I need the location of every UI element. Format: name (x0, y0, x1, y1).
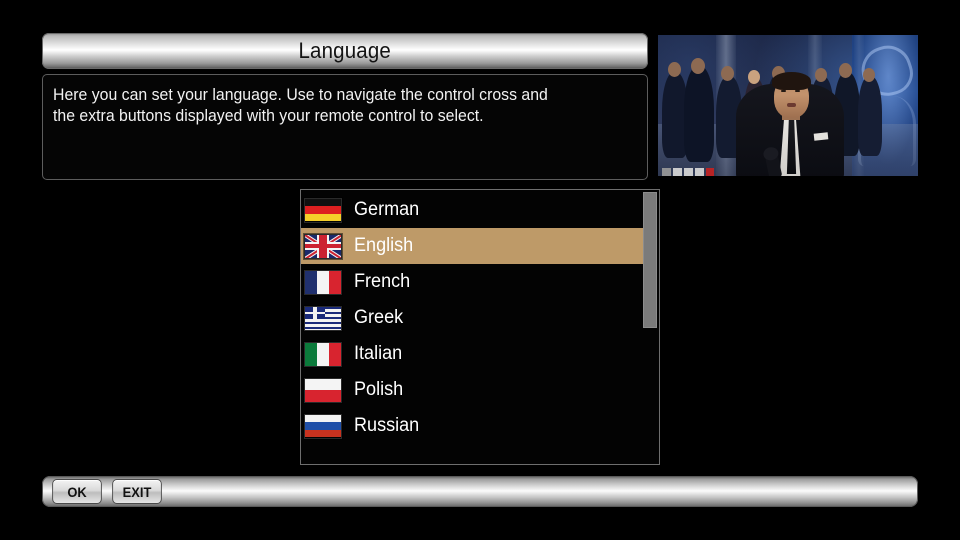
video-reporter-eye (795, 90, 800, 92)
list-item-label: Greek (354, 307, 403, 329)
flag-gr-icon (304, 306, 342, 331)
language-list: German English French (301, 192, 643, 444)
video-crowd-person (858, 76, 882, 156)
flag-gb-icon (304, 234, 342, 259)
list-item-english[interactable]: English (301, 228, 643, 264)
ok-button[interactable]: OK (52, 479, 102, 504)
page-title: Language (299, 38, 392, 64)
video-reporter-pocket-square (814, 132, 829, 140)
video-scene (658, 32, 918, 180)
video-crowd-head (668, 62, 681, 77)
video-crowd-head (748, 70, 760, 84)
flag-it-icon (304, 342, 342, 367)
video-preview[interactable] (658, 32, 918, 180)
help-description-box: Here you can set your language. Use to n… (42, 74, 648, 180)
video-crowd-head (815, 68, 827, 82)
list-scrollbar[interactable] (643, 192, 657, 462)
window-title-bar: Language (42, 33, 648, 69)
list-item-german[interactable]: German (301, 192, 643, 228)
flag-fr-icon (304, 270, 342, 295)
flag-pl-icon (304, 378, 342, 403)
list-item-label: French (354, 271, 410, 293)
exit-button[interactable]: EXIT (112, 479, 162, 504)
list-item-italian[interactable]: Italian (301, 336, 643, 372)
language-list-panel[interactable]: German English French (300, 189, 660, 465)
video-crowd-person (684, 66, 714, 162)
video-crowd-head (839, 63, 852, 78)
video-reporter-mouth (787, 103, 796, 107)
video-crowd-head (721, 66, 734, 81)
video-crowd-head (863, 68, 875, 82)
flag-de-icon (304, 198, 342, 223)
list-item-label: Italian (354, 343, 402, 365)
list-item-russian[interactable]: Russian (301, 408, 643, 444)
tv-settings-screen: Language Here you can set your language.… (0, 0, 960, 540)
video-letterbox-top (658, 32, 918, 35)
list-item-label: Russian (354, 415, 419, 437)
list-item-label: Polish (354, 379, 403, 401)
list-item-label: English (354, 235, 413, 257)
video-letterbox-bottom (658, 176, 918, 180)
list-item-polish[interactable]: Polish (301, 372, 643, 408)
list-item-label: German (354, 199, 419, 221)
video-reporter-eye (781, 90, 786, 92)
flag-ru-icon (304, 414, 342, 439)
video-crowd-head (691, 58, 705, 74)
list-item-french[interactable]: French (301, 264, 643, 300)
bottom-button-bar: OK EXIT (42, 476, 918, 507)
list-item-greek[interactable]: Greek (301, 300, 643, 336)
help-description-text: Here you can set your language. Use to n… (53, 85, 612, 127)
video-reporter-hair (772, 72, 811, 90)
list-scrollbar-thumb[interactable] (643, 192, 657, 328)
